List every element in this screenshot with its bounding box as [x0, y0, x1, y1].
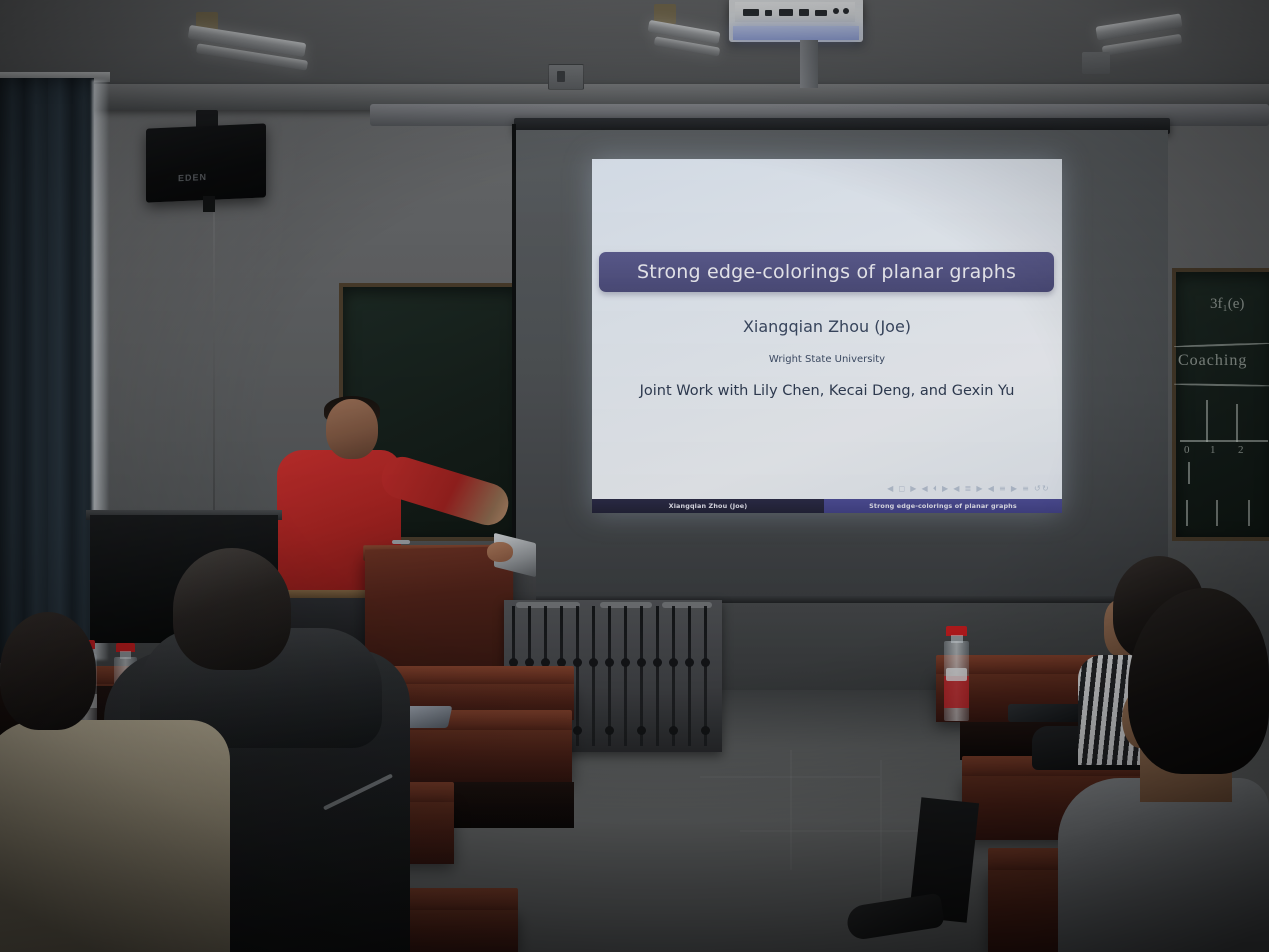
chalk-tick-v1: [1206, 400, 1208, 442]
chalk-word: Coaching: [1178, 352, 1247, 370]
slide-affiliation: Wright State University: [592, 354, 1062, 365]
chalk-oval-top: [1174, 342, 1269, 347]
slide-footer: Xiangqian Zhou (Joe) Strong edge-colorin…: [592, 499, 1062, 513]
wall-outlet-plate-right: [1082, 52, 1110, 74]
podium: [365, 546, 513, 669]
slide-footer-author: Xiangqian Zhou (Joe): [669, 502, 748, 510]
beamer-navigation-symbols[interactable]: ◀ ◻ ▶ ◀ ⏴ ▶ ◀ ≣ ▶ ◀ ≡ ▶ ≡ ↺↻: [887, 484, 1050, 494]
slide-author: Xiangqian Zhou (Joe): [592, 317, 1062, 336]
audience-center-hoodie-head: [173, 548, 291, 670]
speaker-foot: [203, 196, 215, 212]
tablet-on-desk: [1008, 704, 1082, 722]
slide-footer-left: Xiangqian Zhou (Joe): [592, 499, 824, 513]
podium-microphone: [392, 540, 410, 544]
blackboard-right: 3f₁(e) Coaching 0 1 2: [1172, 268, 1269, 541]
chalk-bar-2: [1216, 500, 1218, 526]
slide-joint-work: Joint Work with Lily Chen, Kecai Deng, a…: [592, 383, 1062, 399]
presentation-slide: Strong edge-colorings of planar graphs X…: [592, 159, 1062, 513]
slide-footer-title: Strong edge-colorings of planar graphs: [869, 502, 1017, 510]
projector-lens-glow: [733, 26, 859, 40]
audience-front-left-body: [0, 720, 230, 952]
audience-right-gray-body: [1058, 778, 1269, 952]
presenter-hand-right: [487, 542, 513, 562]
presenter-head: [326, 399, 378, 459]
speaker-logo: EDEN: [178, 172, 207, 183]
projector-ceiling-mount: [800, 40, 818, 88]
chalk-tick-1: 1: [1210, 444, 1216, 456]
chalk-tick-v2: [1236, 404, 1238, 442]
chalk-number-line: [1180, 440, 1268, 442]
slide-footer-right: Strong edge-colorings of planar graphs: [824, 499, 1062, 513]
slide-title-bar: Strong edge-colorings of planar graphs: [599, 252, 1054, 292]
chalk-formula: 3f₁(e): [1210, 296, 1244, 313]
chalk-tick-0: 0: [1184, 444, 1190, 456]
wall-speaker: EDEN: [146, 123, 266, 202]
chalk-bar-1: [1186, 500, 1188, 526]
chalk-arrow-stem: [1188, 462, 1190, 484]
slide-title: Strong edge-colorings of planar graphs: [637, 261, 1016, 283]
chalk-tick-2: 2: [1238, 444, 1244, 456]
projector-connector-panel: [735, 2, 855, 22]
lecture-hall-photo: EDEN 3f₁(e) Coaching 0 1 2 Strong edge-c…: [0, 0, 1269, 952]
audience-front-left-head: [0, 612, 96, 730]
wall-outlet-plate: [548, 64, 584, 90]
window-curtain: [0, 78, 94, 663]
ceiling: [0, 0, 1269, 96]
chalk-oval-bottom: [1174, 383, 1269, 386]
chalk-bar-3: [1248, 500, 1250, 526]
